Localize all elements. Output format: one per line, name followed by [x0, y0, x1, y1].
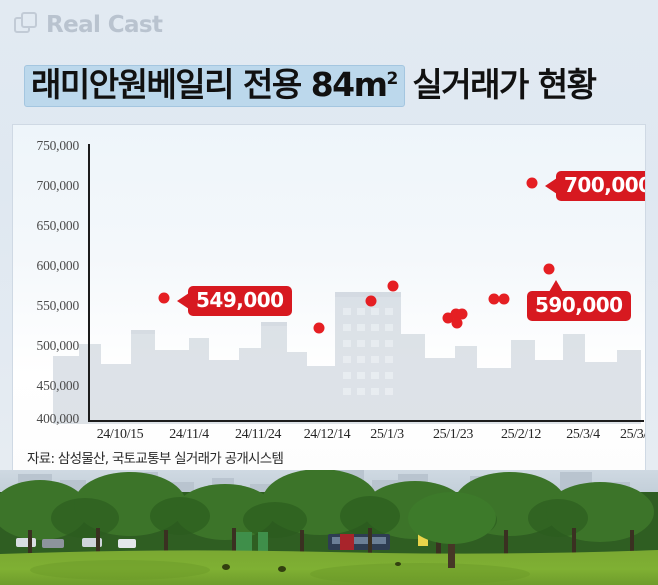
data-point [544, 264, 555, 275]
brand-name: Real Cast [46, 12, 162, 38]
y-tick-label: 550,000 [12, 298, 79, 314]
x-tick-label: 25/2/12 [501, 427, 541, 443]
brand-logo: Real Cast [14, 12, 162, 38]
x-tick-label: 24/11/4 [169, 427, 208, 443]
page-title-rest: 실거래가 현황 [412, 58, 595, 106]
data-label-callout: 590,000 [527, 291, 631, 321]
y-tick-label: 450,000 [12, 378, 79, 394]
page-title-highlight-text: 래미안원베일리 전용 84m [31, 65, 387, 104]
data-label-callout: 549,000 [188, 286, 292, 316]
data-point [366, 296, 377, 307]
park-lawn-illustration [0, 470, 658, 585]
data-point [499, 294, 510, 305]
data-point [452, 318, 463, 329]
data-point [159, 293, 170, 304]
x-tick-label: 25/3/4 [566, 427, 599, 443]
x-tick-label: 24/12/14 [304, 427, 351, 443]
page-title-superscript: 2 [387, 69, 399, 89]
y-tick-label: 700,000 [12, 178, 79, 194]
chart-panel: 750,000 700,000 650,000 600,000 550,000 … [12, 124, 646, 472]
header-band: Real Cast 래미안원베일리 전용 84m2 실거래가 현황 [0, 0, 658, 470]
data-point [314, 323, 325, 334]
y-tick-label: 600,000 [12, 258, 79, 274]
x-tick-label: 24/11/24 [235, 427, 281, 443]
source-note: 자료: 삼성물산, 국토교통부 실거래가 공개시스템 [27, 447, 283, 467]
x-tick-label: 25/1/23 [433, 427, 473, 443]
x-tick-label: 24/10/15 [97, 427, 144, 443]
x-axis-line [88, 420, 644, 422]
x-tick-label: 25/1/3 [370, 427, 403, 443]
overlapping-squares-icon [14, 12, 40, 38]
page-title: 래미안원베일리 전용 84m2 실거래가 현황 [24, 58, 596, 107]
data-label-callout: 700,000 [556, 171, 646, 201]
y-tick-label: 650,000 [12, 218, 79, 234]
y-tick-label: 750,000 [12, 138, 79, 154]
data-point [388, 281, 399, 292]
data-point [527, 178, 538, 189]
y-axis-line [88, 144, 90, 422]
park-photo [0, 470, 658, 585]
y-tick-label: 400,000 [12, 411, 79, 427]
page-title-highlight: 래미안원베일리 전용 84m2 [24, 65, 405, 107]
y-tick-label: 500,000 [12, 338, 79, 354]
x-tick-label: 25/3/24 [620, 427, 646, 443]
